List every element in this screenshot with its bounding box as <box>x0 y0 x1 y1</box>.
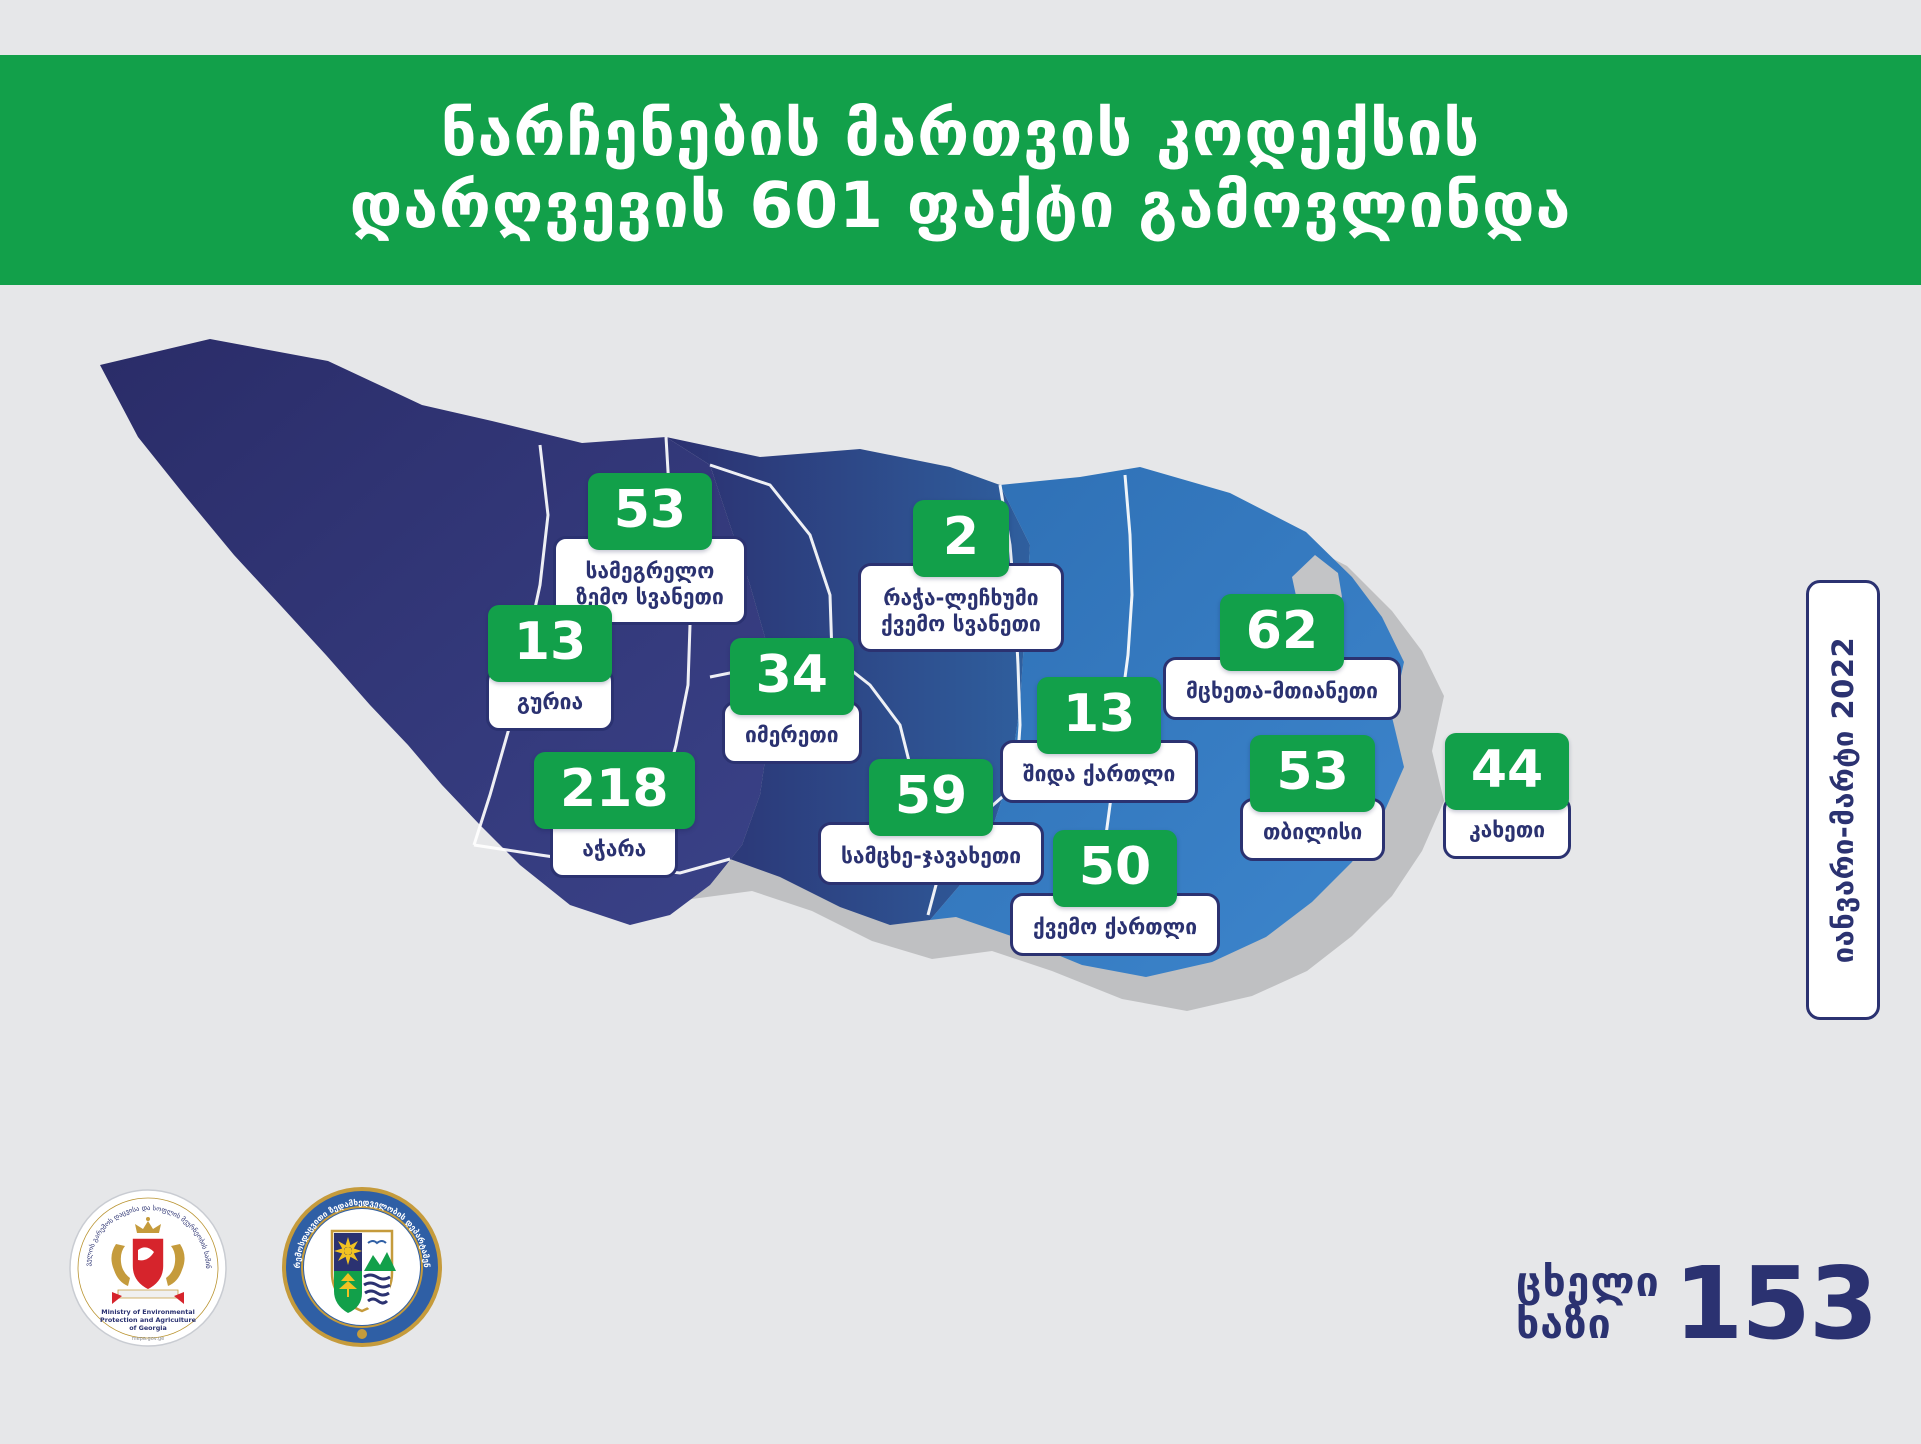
region-badge-adjara[interactable]: 218 აჭარა <box>534 752 695 878</box>
hotline-number: 153 <box>1674 1258 1877 1350</box>
header-title-line-2: დარღვევის 601 ფაქტი გამოვლინდა <box>350 170 1572 242</box>
region-value: 53 <box>588 473 712 550</box>
region-value: 218 <box>534 752 695 829</box>
date-range-chip: იანვარი-მარტი 2022 <box>1806 580 1880 1020</box>
region-badge-guria[interactable]: 13 გურია <box>486 605 614 731</box>
region-value: 13 <box>1037 677 1161 754</box>
date-range-label: იანვარი-მარტი 2022 <box>1826 637 1860 963</box>
region-value: 53 <box>1250 735 1374 812</box>
hotline-words: ცხელი ხაზი <box>1516 1262 1660 1346</box>
region-badge-kvemo-kartli[interactable]: 50 ქვემო ქართლი <box>1010 830 1220 956</box>
header-banner: ნარჩენების მართვის კოდექსის დარღვევის 60… <box>0 55 1921 285</box>
region-value: 13 <box>488 605 612 682</box>
header-title-line-1: ნარჩენების მართვის კოდექსის <box>441 98 1481 170</box>
region-badge-samegrelo-zemo-svaneti[interactable]: 53 სამეგრელო ზემო სვანეთი <box>553 473 747 625</box>
region-badge-kakheti[interactable]: 44 კახეთი <box>1443 733 1571 859</box>
ministry-en-line-1: Ministry of Environmental <box>101 1308 195 1316</box>
region-badge-mtskheta-mtianeti[interactable]: 62 მცხეთა-მთიანეთი <box>1163 594 1401 720</box>
region-value: 50 <box>1053 830 1177 907</box>
supervision-seal-logo: გარემოსდაცვითი ზედამხედველობის დეპარტამე… <box>280 1185 445 1354</box>
hotline-word-2: ხაზი <box>1516 1304 1660 1346</box>
region-badge-tbilisi[interactable]: 53 თბილისი <box>1240 735 1385 861</box>
region-value: 44 <box>1445 733 1569 810</box>
region-value: 2 <box>913 500 1009 577</box>
region-badge-racha-lechkhumi-kvemo-svaneti[interactable]: 2 რაჭა-ლეჩხუმი ქვემო სვანეთი <box>858 500 1064 652</box>
region-value: 34 <box>730 638 854 715</box>
ministry-url: mepa.gov.ge <box>132 1336 164 1342</box>
ministry-en-line-3: of Georgia <box>129 1324 167 1332</box>
hotline-word-1: ცხელი <box>1516 1262 1660 1304</box>
logo-row: საქართველოს გარემოს დაცვისა და სოფლის მე… <box>68 1185 445 1354</box>
ministry-seal-logo: საქართველოს გარემოს დაცვისა და სოფლის მე… <box>68 1188 228 1352</box>
region-value: 59 <box>869 759 993 836</box>
region-badge-imereti[interactable]: 34 იმერეთი <box>722 638 862 764</box>
region-value: 62 <box>1220 594 1344 671</box>
ministry-en-line-2: Protection and Agriculture <box>100 1316 197 1324</box>
hotline-block[interactable]: ცხელი ხაზი 153 <box>1516 1258 1876 1350</box>
